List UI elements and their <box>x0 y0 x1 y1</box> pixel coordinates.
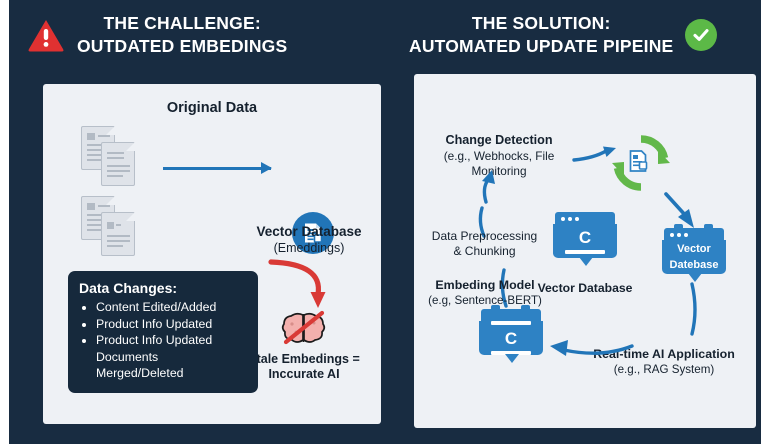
list-item: Product Info Updated <box>96 316 247 333</box>
browser-dot <box>561 217 565 221</box>
check-circle-icon <box>685 19 717 51</box>
list-item: Product Info Updated <box>96 332 247 349</box>
browser-dot <box>670 233 674 237</box>
left-panel-title: THE CHALLENGE: OUTDATED EMBEDINGS <box>77 12 287 59</box>
data-changes-list: Content Edited/Added Product Info Update… <box>79 299 247 349</box>
ai-application-sub: (e.g., RAG System) <box>614 363 715 376</box>
vector-database-label: Vector Database <box>239 224 379 240</box>
original-data-label: Original Data <box>43 100 381 118</box>
right-panel-header: THE SOLUTION: AUTOMATED UPDATE PIPEINE <box>409 12 717 59</box>
vector-database-mid-label: Vector Database <box>524 281 646 296</box>
database-glyph: C <box>579 229 591 246</box>
data-changes-trailing-line: Documents Merged/Deleted <box>79 349 247 382</box>
browser-dot <box>684 233 688 237</box>
warning-triangle-icon <box>27 18 65 52</box>
vector-datebase-icon: Vector Datebase <box>662 228 726 280</box>
document-stack-2 <box>81 196 153 256</box>
left-panel-header: THE CHALLENGE: OUTDATED EMBEDINGS <box>27 12 287 59</box>
solution-panel: Change Detection (e.g., Webhocks, File M… <box>414 74 756 428</box>
green-refresh-cycle-icon <box>610 132 672 194</box>
embeding-model-sub: (e.g, Sentence-BERT) <box>428 294 542 307</box>
right-panel-title: THE SOLUTION: AUTOMATED UPDATE PIPEINE <box>409 12 673 59</box>
model-glyph: C <box>505 330 517 347</box>
data-changes-box: Data Changes: Content Edited/Added Produ… <box>68 271 258 393</box>
data-preprocessing-label: Data Preprocessing & Chunking <box>412 229 557 259</box>
data-preprocessing-line-1: Data Preprocessing <box>432 229 537 243</box>
document-icon <box>101 142 135 186</box>
list-item: Content Edited/Added <box>96 299 247 316</box>
vector-database-sublabel: (Emeddings) <box>239 241 379 256</box>
data-changes-title: Data Changes: <box>79 280 247 296</box>
arrow-to-embeding-pipeline <box>542 332 638 362</box>
browser-body: Vector Datebase <box>662 240 726 274</box>
browser-dot <box>568 217 572 221</box>
data-preprocessing-line-2: & Chunking <box>453 244 515 258</box>
blue-arrow-right <box>163 167 271 170</box>
challenge-panel: Original Data <box>43 84 381 424</box>
embeding-model-title: Embeding Model <box>435 278 534 292</box>
embeding-model-icon: C <box>479 309 543 361</box>
document-icon <box>101 212 135 256</box>
browser-dot <box>677 233 681 237</box>
infographic-canvas: THE CHALLENGE: OUTDATED EMBEDINGS THE SO… <box>0 0 770 444</box>
browser-body: C <box>553 224 617 258</box>
change-detection-sub-1: (e.g., Webhocks, File <box>444 149 555 163</box>
vector-database-mid-icon: C <box>553 212 617 264</box>
document-stack-1 <box>81 126 153 186</box>
crossed-out-brain-icon <box>279 306 329 348</box>
stale-line-2: Inccurate AI <box>268 367 339 381</box>
browser-body: C <box>479 321 543 355</box>
vector-datebase-line-2: Datebase <box>670 259 719 271</box>
vector-datebase-line-1: Vector <box>677 243 711 255</box>
browser-dot <box>575 217 579 221</box>
change-detection-title: Change Detection <box>445 133 552 147</box>
arrow-to-change-detection <box>476 170 502 206</box>
stale-line-1: Stale Embedings = <box>248 352 360 366</box>
